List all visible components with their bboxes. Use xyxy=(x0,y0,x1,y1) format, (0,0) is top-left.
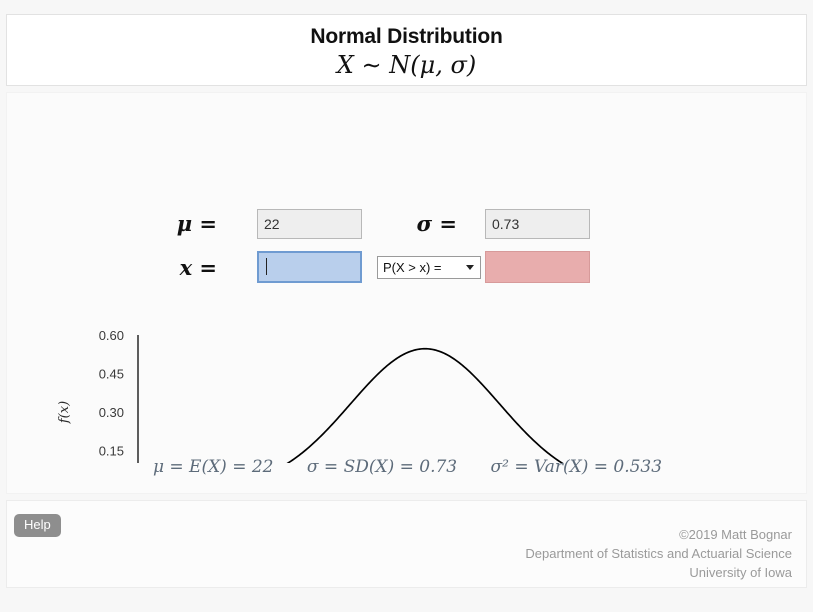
density-curve xyxy=(138,349,712,463)
stat-sd: σ = SD(X) = 0.73 xyxy=(307,457,457,477)
title-panel: Normal Distribution X ∼ N(μ, σ) xyxy=(6,14,807,86)
credit-copyright: ©2019 Matt Bognar xyxy=(525,525,792,544)
stat-mean: μ = E(X) = 22 xyxy=(153,457,274,477)
credits: ©2019 Matt Bognar Department of Statisti… xyxy=(525,525,792,582)
main-panel: μ = 22 σ = 0.73 x = P(X > x) = 0.000.150… xyxy=(6,92,807,494)
page-title: Normal Distribution xyxy=(7,25,806,49)
y-tick-label: 0.60 xyxy=(99,328,124,343)
credit-department: Department of Statistics and Actuarial S… xyxy=(525,544,792,563)
credit-university: University of Iowa xyxy=(525,563,792,582)
y-axis-label: f(x) xyxy=(57,401,72,424)
plot-svg: 0.000.150.300.450.6019.620.421.222.022.8… xyxy=(7,233,808,463)
y-tick-label: 0.30 xyxy=(99,405,124,420)
footer-panel: Help ©2019 Matt Bognar Department of Sta… xyxy=(6,500,807,588)
help-button[interactable]: Help xyxy=(14,514,61,537)
stat-variance: σ² = Var(X) = 0.533 xyxy=(491,457,663,477)
distribution-plot: 0.000.150.300.450.6019.620.421.222.022.8… xyxy=(7,233,808,463)
summary-statistics: μ = E(X) = 22 σ = SD(X) = 0.73 σ² = Var(… xyxy=(7,457,808,477)
y-tick-label: 0.45 xyxy=(99,367,124,382)
distribution-formula: X ∼ N(μ, σ) xyxy=(7,50,806,80)
